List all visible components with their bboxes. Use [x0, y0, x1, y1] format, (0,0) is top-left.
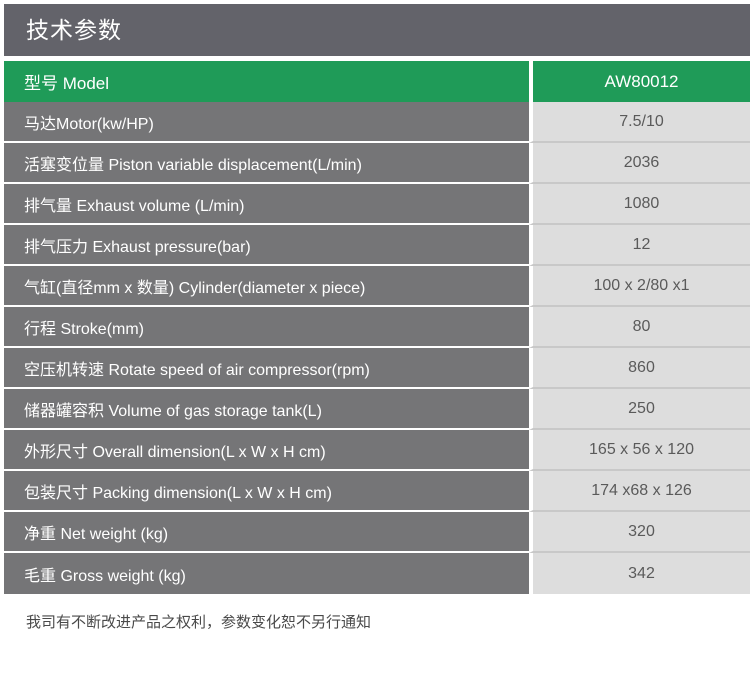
table-row: 活塞变位量 Piston variable displacement(L/min… — [4, 143, 750, 184]
table-row: 包装尺寸 Packing dimension(L x W x H cm) 174… — [4, 471, 750, 512]
table-row: 储器罐容积 Volume of gas storage tank(L) 250 — [4, 389, 750, 430]
table-header-label: 型号 Model — [4, 61, 529, 102]
row-value: 174 x68 x 126 — [529, 471, 750, 512]
row-value: 2036 — [529, 143, 750, 184]
row-value: 250 — [529, 389, 750, 430]
row-value: 80 — [529, 307, 750, 348]
table-row: 外形尺寸 Overall dimension(L x W x H cm) 165… — [4, 430, 750, 471]
row-label: 排气压力 Exhaust pressure(bar) — [4, 225, 529, 266]
row-value: 860 — [529, 348, 750, 389]
row-label: 活塞变位量 Piston variable displacement(L/min… — [4, 143, 529, 184]
specification-table: 型号 Model AW80012 马达Motor(kw/HP) 7.5/10 活… — [4, 61, 750, 594]
table-row: 马达Motor(kw/HP) 7.5/10 — [4, 102, 750, 143]
table-header-value: AW80012 — [529, 61, 750, 102]
row-label: 空压机转速 Rotate speed of air compressor(rpm… — [4, 348, 529, 389]
disclaimer-note: 我司有不断改进产品之权利，参数变化恕不另行通知 — [4, 612, 750, 633]
row-value: 320 — [529, 512, 750, 553]
table-row: 毛重 Gross weight (kg) 342 — [4, 553, 750, 594]
table-row: 净重 Net weight (kg) 320 — [4, 512, 750, 553]
table-row: 行程 Stroke(mm) 80 — [4, 307, 750, 348]
row-label: 毛重 Gross weight (kg) — [4, 553, 529, 594]
row-value: 165 x 56 x 120 — [529, 430, 750, 471]
table-row: 排气量 Exhaust volume (L/min) 1080 — [4, 184, 750, 225]
table-header-row: 型号 Model AW80012 — [4, 61, 750, 102]
row-label: 行程 Stroke(mm) — [4, 307, 529, 348]
row-label: 储器罐容积 Volume of gas storage tank(L) — [4, 389, 529, 430]
page-title-bar: 技术参数 — [4, 4, 750, 56]
row-label: 净重 Net weight (kg) — [4, 512, 529, 553]
row-value: 100 x 2/80 x1 — [529, 266, 750, 307]
row-label: 外形尺寸 Overall dimension(L x W x H cm) — [4, 430, 529, 471]
row-label: 马达Motor(kw/HP) — [4, 102, 529, 143]
row-value: 1080 — [529, 184, 750, 225]
page-title: 技术参数 — [4, 19, 122, 42]
row-label: 排气量 Exhaust volume (L/min) — [4, 184, 529, 225]
row-value: 7.5/10 — [529, 102, 750, 143]
table-row: 排气压力 Exhaust pressure(bar) 12 — [4, 225, 750, 266]
row-label: 气缸(直径mm x 数量) Cylinder(diameter x piece) — [4, 266, 529, 307]
row-value: 342 — [529, 553, 750, 594]
table-row: 空压机转速 Rotate speed of air compressor(rpm… — [4, 348, 750, 389]
table-row: 气缸(直径mm x 数量) Cylinder(diameter x piece)… — [4, 266, 750, 307]
row-value: 12 — [529, 225, 750, 266]
row-label: 包装尺寸 Packing dimension(L x W x H cm) — [4, 471, 529, 512]
spec-sheet-page: 技术参数 型号 Model AW80012 马达Motor(kw/HP) 7.5… — [0, 0, 750, 674]
